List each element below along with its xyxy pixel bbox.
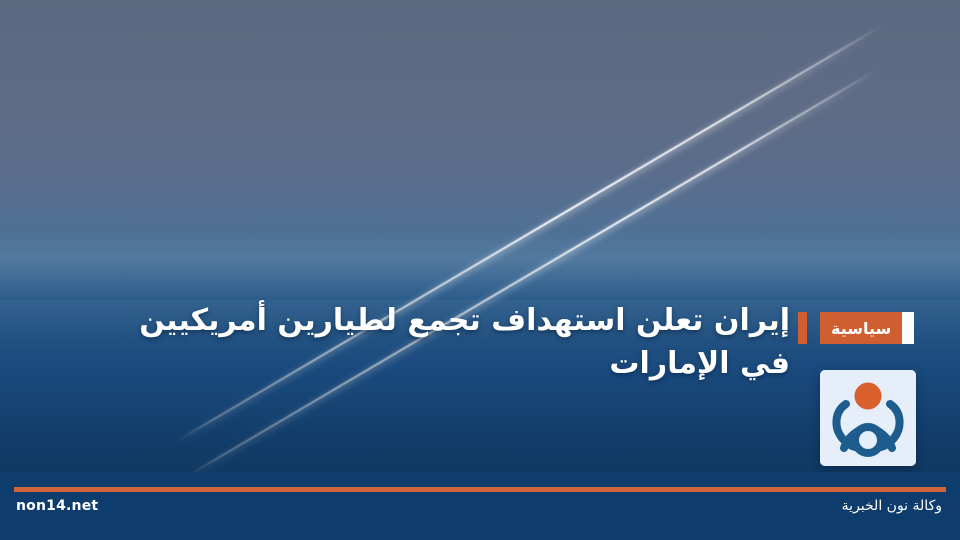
badge-white-cap: [902, 312, 914, 344]
page-title: إيران تعلن استهداف تجمع لطيارين أمريكيين…: [40, 300, 790, 385]
category-badge-group: سياسية: [820, 312, 914, 344]
headline-line-1: إيران تعلن استهداف تجمع لطيارين أمريكيين: [139, 303, 790, 338]
footer-bar: non14.net وكالة نون الخبرية: [0, 472, 960, 540]
headline-line-2: في الإمارات: [609, 346, 790, 381]
headline-block: إيران تعلن استهداف تجمع لطيارين أمريكيين…: [40, 300, 790, 385]
site-url[interactable]: non14.net: [16, 498, 98, 514]
orange-circle-icon: [855, 383, 882, 410]
news-card: إيران تعلن استهداف تجمع لطيارين أمريكيين…: [0, 0, 960, 540]
status-badge[interactable]: سياسية: [820, 312, 902, 344]
footer-divider: [14, 487, 946, 492]
accent-tick: [798, 312, 807, 344]
agency-name: وكالة نون الخبرية: [842, 498, 942, 514]
non14-logo[interactable]: [820, 370, 916, 466]
background-photo: [0, 0, 960, 472]
